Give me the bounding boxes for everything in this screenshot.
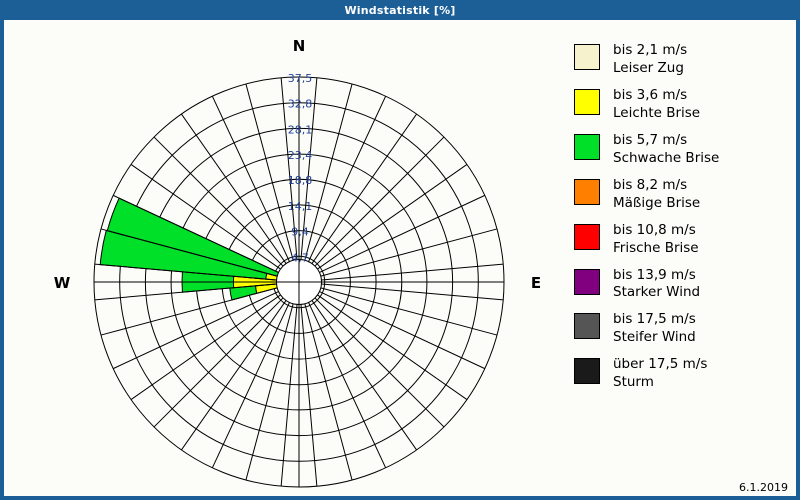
windrose-svg: 4,79,414,118,823,428,132,837,5 NESW bbox=[4, 20, 564, 496]
legend-item: bis 10,8 m/s Frische Brise bbox=[574, 222, 792, 258]
legend-speed-label: bis 17,5 m/s bbox=[613, 311, 696, 329]
legend-name-label: Starker Wind bbox=[613, 284, 700, 302]
cardinal-label-w: W bbox=[54, 274, 71, 292]
radial-tick-label: 37,5 bbox=[288, 72, 313, 85]
legend-swatch bbox=[574, 224, 600, 250]
legend-speed-label: bis 8,2 m/s bbox=[613, 177, 700, 195]
legend-speed-label: bis 10,8 m/s bbox=[613, 222, 699, 240]
legend-name-label: Leichte Brise bbox=[613, 105, 700, 123]
legend-speed-label: bis 5,7 m/s bbox=[613, 132, 719, 150]
legend-swatch bbox=[574, 358, 600, 384]
radial-tick-label: 28,1 bbox=[288, 123, 313, 136]
legend-speed-label: bis 2,1 m/s bbox=[613, 42, 687, 60]
legend-item: über 17,5 m/s Sturm bbox=[574, 356, 792, 392]
legend-item: bis 17,5 m/s Steifer Wind bbox=[574, 311, 792, 347]
legend-name-label: Frische Brise bbox=[613, 240, 699, 258]
legend-item: bis 5,7 m/s Schwache Brise bbox=[574, 132, 792, 168]
legend-swatch bbox=[574, 89, 600, 115]
legend-speed-label: über 17,5 m/s bbox=[613, 356, 707, 374]
legend-name-label: Sturm bbox=[613, 374, 707, 392]
legend: bis 2,1 m/s Leiser Zug bis 3,6 m/s Leich… bbox=[574, 42, 792, 401]
windrose-chart: 4,79,414,118,823,428,132,837,5 NESW bbox=[4, 20, 564, 496]
radial-tick-label: 23,4 bbox=[288, 149, 313, 162]
legend-item: bis 2,1 m/s Leiser Zug bbox=[574, 42, 792, 78]
legend-swatch bbox=[574, 134, 600, 160]
legend-item: bis 3,6 m/s Leichte Brise bbox=[574, 87, 792, 123]
radial-tick-label: 4,7 bbox=[291, 251, 309, 264]
legend-item: bis 8,2 m/s Mäßige Brise bbox=[574, 177, 792, 213]
window-title: Windstatistik [%] bbox=[344, 4, 455, 17]
legend-swatch bbox=[574, 179, 600, 205]
legend-name-label: Mäßige Brise bbox=[613, 195, 700, 213]
legend-swatch bbox=[574, 269, 600, 295]
window-title-bar: Windstatistik [%] bbox=[0, 0, 800, 20]
legend-name-label: Leiser Zug bbox=[613, 60, 687, 78]
legend-name-label: Schwache Brise bbox=[613, 150, 719, 168]
app-window: Windstatistik [%] 4,79,414,118,823,428,1… bbox=[0, 0, 800, 500]
legend-name-label: Steifer Wind bbox=[613, 329, 696, 347]
radial-tick-label: 9,4 bbox=[291, 226, 309, 239]
polar-spokes bbox=[94, 77, 504, 487]
legend-item: bis 13,9 m/s Starker Wind bbox=[574, 267, 792, 303]
radial-tick-label: 18,8 bbox=[288, 174, 313, 187]
cardinal-label-n: N bbox=[293, 37, 306, 55]
legend-speed-label: bis 3,6 m/s bbox=[613, 87, 700, 105]
radial-tick-label: 32,8 bbox=[288, 98, 313, 111]
radial-tick-label: 14,1 bbox=[288, 200, 313, 213]
legend-speed-label: bis 13,9 m/s bbox=[613, 267, 700, 285]
date-label: 6.1.2019 bbox=[739, 481, 788, 494]
window-client-area: 4,79,414,118,823,428,132,837,5 NESW bis … bbox=[4, 20, 796, 496]
legend-swatch bbox=[574, 313, 600, 339]
cardinal-label-e: E bbox=[531, 274, 541, 292]
legend-swatch bbox=[574, 44, 600, 70]
